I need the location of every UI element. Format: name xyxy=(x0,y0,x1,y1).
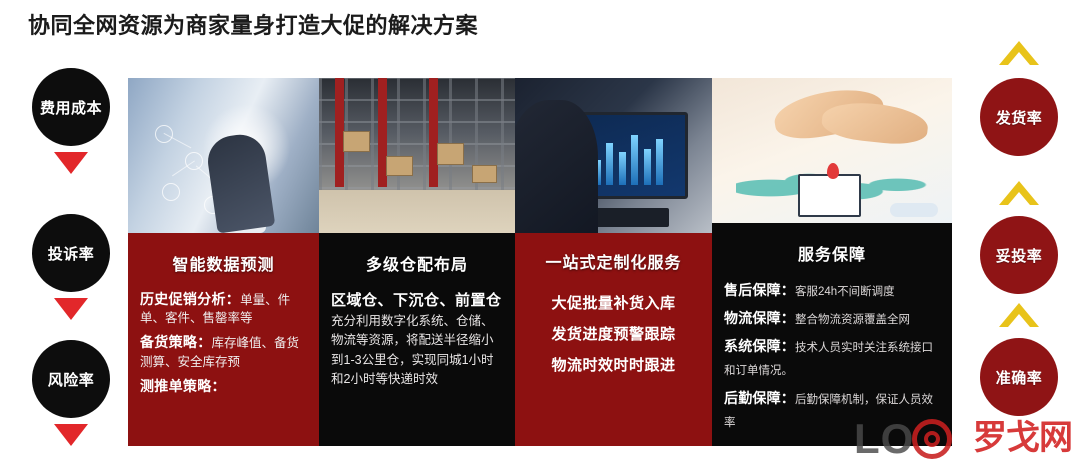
card-service-guarantee[interactable]: 服务保障 售后保障：客服24h不间断调度 物流保障：整合物流资源覆盖全网 系统保… xyxy=(712,78,952,446)
card-1-item-2: 测推单策略： xyxy=(140,376,307,396)
card-4-thumbnail xyxy=(712,78,952,223)
arrow-up-icon xyxy=(997,178,1041,208)
card-smart-data-forecast[interactable]: 智能数据预测 历史促销分析：单量、件单、客件、售罄率等 备货策略：库存峰值、备货… xyxy=(128,78,319,446)
arrow-up-icon xyxy=(997,300,1041,330)
left-node-cost[interactable]: 费用成本 xyxy=(32,68,110,146)
card-1-body: 智能数据预测 历史促销分析：单量、件单、客件、售罄率等 备货策略：库存峰值、备货… xyxy=(128,233,319,446)
left-node-cost-label: 费用成本 xyxy=(40,97,102,118)
card-4-item-1: 物流保障：整合物流资源覆盖全网 xyxy=(724,307,940,330)
card-multi-level-warehouse[interactable]: 多级仓配布局 区域仓、下沉仓、前置仓 充分利用数字化系统、仓储、物流等资源，将配… xyxy=(319,78,515,446)
card-4-item-0-key: 售后保障： xyxy=(724,282,795,298)
left-metrics-rail: 费用成本 投诉率 风险率 xyxy=(0,0,130,473)
card-4-item-1-key: 物流保障： xyxy=(724,310,795,326)
arrow-down-icon xyxy=(54,152,88,174)
card-4-item-3: 后勤保障：后勤保障机制，保证人员效率 xyxy=(724,387,940,433)
left-node-complaint-label: 投诉率 xyxy=(48,243,95,264)
slide-root: 协同全网资源为商家量身打造大促的解决方案 费用成本 投诉率 风险率 发货率 妥投… xyxy=(0,0,1080,473)
card-2-title: 多级仓配布局 xyxy=(331,251,503,275)
card-4-title: 服务保障 xyxy=(724,241,940,265)
card-4-item-1-value: 整合物流资源覆盖全网 xyxy=(795,314,910,326)
card-3-thumbnail xyxy=(515,78,712,233)
card-3-title: 一站式定制化服务 xyxy=(527,249,700,273)
card-4-item-2-key: 系统保障： xyxy=(724,338,795,354)
card-4-item-0-value: 客服24h不间断调度 xyxy=(795,286,895,298)
arrow-up-icon xyxy=(997,38,1041,68)
card-3-line-1: 发货进度预警跟踪 xyxy=(527,320,700,351)
left-node-risk[interactable]: 风险率 xyxy=(32,340,110,418)
card-2-body: 多级仓配布局 区域仓、下沉仓、前置仓 充分利用数字化系统、仓储、物流等资源，将配… xyxy=(319,233,515,446)
card-1-title: 智能数据预测 xyxy=(140,251,307,275)
solution-cards-board: 智能数据预测 历史促销分析：单量、件单、客件、售罄率等 备货策略：库存峰值、备货… xyxy=(128,78,952,446)
right-node-shipping-rate-label: 发货率 xyxy=(996,107,1043,128)
high-bay-racking-photo xyxy=(319,78,515,233)
right-node-shipping-rate[interactable]: 发货率 xyxy=(980,78,1058,156)
right-metrics-rail: 发货率 妥投率 准确率 xyxy=(950,0,1080,473)
card-4-item-0: 售后保障：客服24h不间断调度 xyxy=(724,279,940,302)
warehouse-digital-network-photo xyxy=(128,78,319,233)
right-node-accuracy-rate[interactable]: 准确率 xyxy=(980,338,1058,416)
card-1-item-1-key: 备货策略： xyxy=(140,334,212,350)
card-1-item-2-key: 测推单策略： xyxy=(140,378,226,394)
handshake-global-logistics-photo xyxy=(712,78,952,223)
card-1-item-0-key: 历史促销分析： xyxy=(140,291,240,307)
card-one-stop-custom-service[interactable]: 一站式定制化服务 大促批量补货入库 发货进度预警跟踪 物流时效时时跟进 xyxy=(515,78,712,446)
right-node-delivery-rate-label: 妥投率 xyxy=(996,245,1043,266)
card-3-body: 一站式定制化服务 大促批量补货入库 发货进度预警跟踪 物流时效时时跟进 xyxy=(515,233,712,446)
card-2-thumbnail xyxy=(319,78,515,233)
right-node-delivery-rate[interactable]: 妥投率 xyxy=(980,216,1058,294)
card-4-item-2: 系统保障：技术人员实时关注系统接口和订单情况。 xyxy=(724,335,940,381)
card-2-paragraph: 充分利用数字化系统、仓储、物流等资源，将配送半径缩小到1-3公里仓，实现同城1小… xyxy=(331,312,503,390)
card-4-body: 服务保障 售后保障：客服24h不间断调度 物流保障：整合物流资源覆盖全网 系统保… xyxy=(712,223,952,446)
right-node-accuracy-rate-label: 准确率 xyxy=(996,367,1043,388)
left-node-complaint[interactable]: 投诉率 xyxy=(32,214,110,292)
operator-dashboard-photo xyxy=(515,78,712,233)
card-1-item-0: 历史促销分析：单量、件单、客件、售罄率等 xyxy=(140,289,307,327)
arrow-down-icon xyxy=(54,298,88,320)
card-3-line-2: 物流时效时时跟进 xyxy=(527,351,700,382)
card-1-item-1: 备货策略：库存峰值、备货测算、安全库存预 xyxy=(140,332,307,370)
card-1-thumbnail xyxy=(128,78,319,233)
arrow-down-icon xyxy=(54,424,88,446)
card-2-headline: 区域仓、下沉仓、前置仓 xyxy=(331,289,503,310)
card-4-item-3-key: 后勤保障： xyxy=(724,390,795,406)
card-3-line-0: 大促批量补货入库 xyxy=(527,289,700,320)
left-node-risk-label: 风险率 xyxy=(48,369,95,390)
